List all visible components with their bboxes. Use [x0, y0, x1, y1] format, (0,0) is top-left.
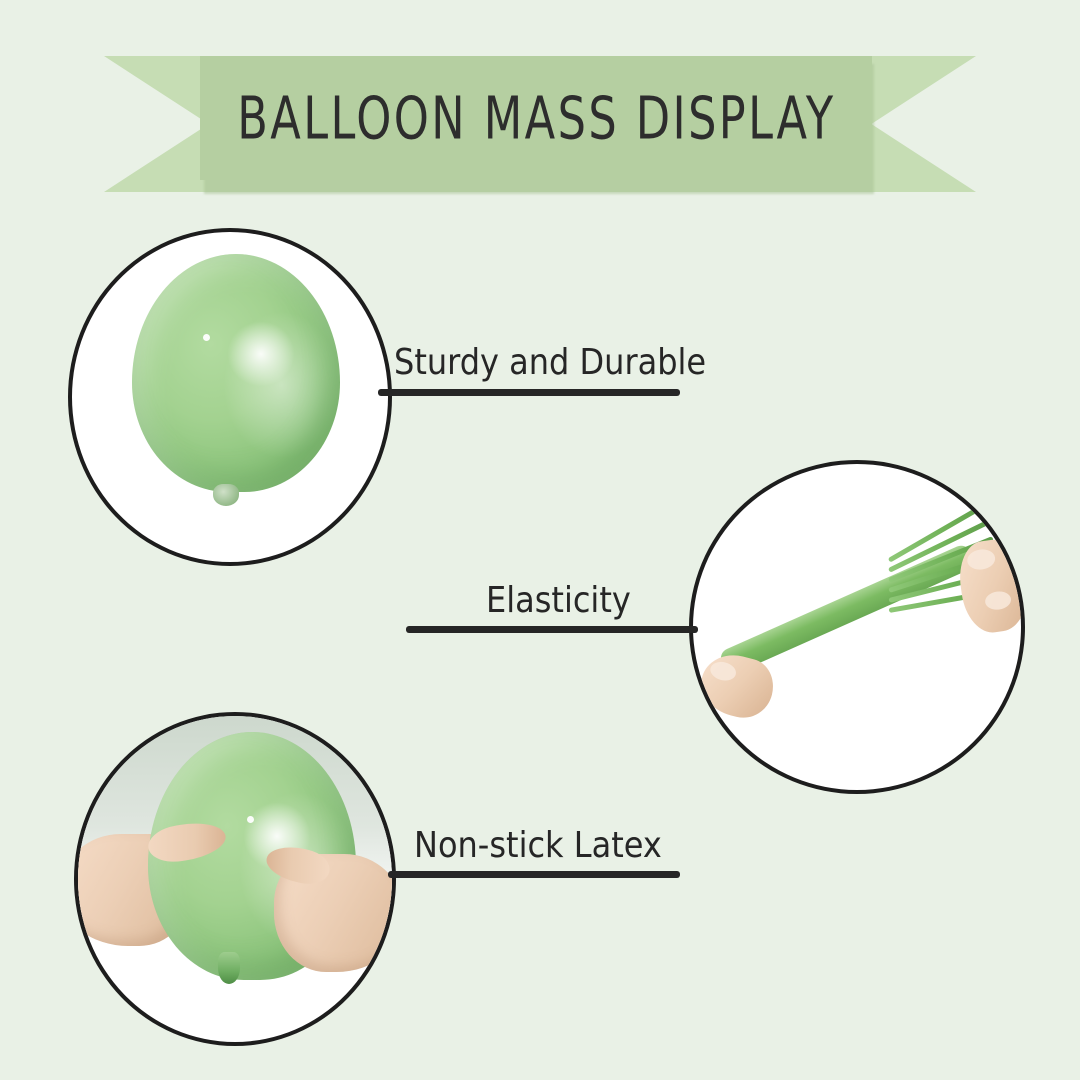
fingernail-icon	[966, 548, 997, 572]
connector-line-elasticity	[406, 626, 698, 633]
balloon-body-icon	[132, 254, 340, 492]
infographic-page: BALLOON MASS DISPLAY Sturdy and Durable	[0, 0, 1080, 1080]
feature-circle-sturdy	[68, 228, 392, 566]
hands-squeezing-balloon-photo	[78, 716, 392, 1042]
fingernail-icon	[984, 590, 1012, 611]
title-ribbon: BALLOON MASS DISPLAY	[104, 56, 976, 192]
balloon-knot-icon	[218, 952, 240, 984]
balloon-photo-sturdy	[72, 232, 388, 562]
feature-label-elasticity: Elasticity	[486, 579, 631, 621]
balloon-highlight-icon	[203, 334, 210, 341]
feature-label-sturdy: Sturdy and Durable	[394, 341, 706, 383]
feature-label-non-stick: Non-stick Latex	[414, 824, 662, 866]
feature-circle-elasticity	[689, 460, 1025, 794]
balloon-highlight-icon	[247, 816, 254, 823]
balloon-knot-icon	[213, 484, 239, 506]
stretched-latex-photo	[693, 464, 1021, 790]
connector-line-sturdy	[378, 389, 680, 396]
fingernail-icon	[708, 659, 738, 683]
ribbon-band: BALLOON MASS DISPLAY	[200, 56, 872, 180]
connector-line-non-stick	[388, 871, 680, 878]
feature-circle-non-stick	[74, 712, 396, 1046]
page-title: BALLOON MASS DISPLAY	[237, 83, 835, 152]
